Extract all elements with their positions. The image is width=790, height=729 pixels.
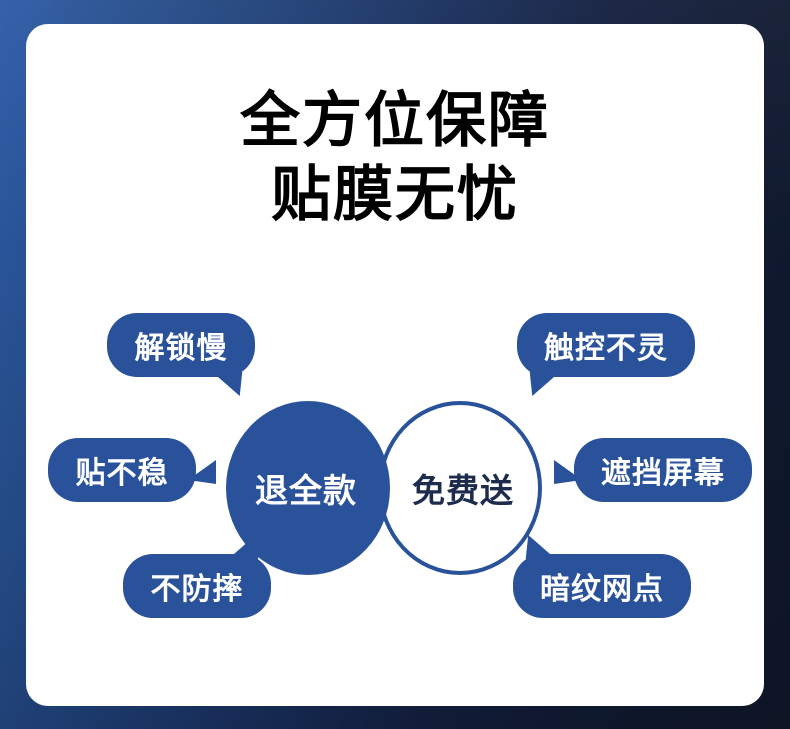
promo-poster: 全方位保障 贴膜无忧 解锁慢 触控不灵 贴不稳 遮挡屏幕 不防摔 暗纹网点 — [0, 0, 790, 729]
circle-label: 免费送 — [412, 464, 514, 512]
circle-free-delivery: 免费送 — [378, 401, 542, 575]
bubble-unlock-slow: 解锁慢 — [107, 313, 255, 377]
guarantee-diagram: 解锁慢 触控不灵 贴不稳 遮挡屏幕 不防摔 暗纹网点 退全款 免 — [26, 24, 764, 706]
white-content-card: 全方位保障 贴膜无忧 解锁慢 触控不灵 贴不稳 遮挡屏幕 不防摔 暗纹网点 — [26, 24, 764, 706]
bubble-label: 触控不灵 — [544, 323, 668, 367]
bubble-label: 暗纹网点 — [540, 564, 664, 608]
bubble-screen-obstruction: 遮挡屏幕 — [574, 438, 752, 502]
bubble-label: 遮挡屏幕 — [601, 448, 725, 492]
bubble-label: 解锁慢 — [135, 323, 228, 367]
circle-full-refund: 退全款 — [226, 401, 390, 575]
bubble-dark-pattern-dots: 暗纹网点 — [513, 554, 691, 618]
bubble-label: 不防摔 — [151, 564, 244, 608]
bubble-poor-adhesion: 贴不稳 — [48, 438, 196, 502]
bubble-touch-unresponsive: 触控不灵 — [517, 313, 695, 377]
circle-label: 退全款 — [255, 464, 357, 512]
bubble-label: 贴不稳 — [76, 448, 169, 492]
bubble-not-drop-proof: 不防摔 — [123, 554, 271, 618]
